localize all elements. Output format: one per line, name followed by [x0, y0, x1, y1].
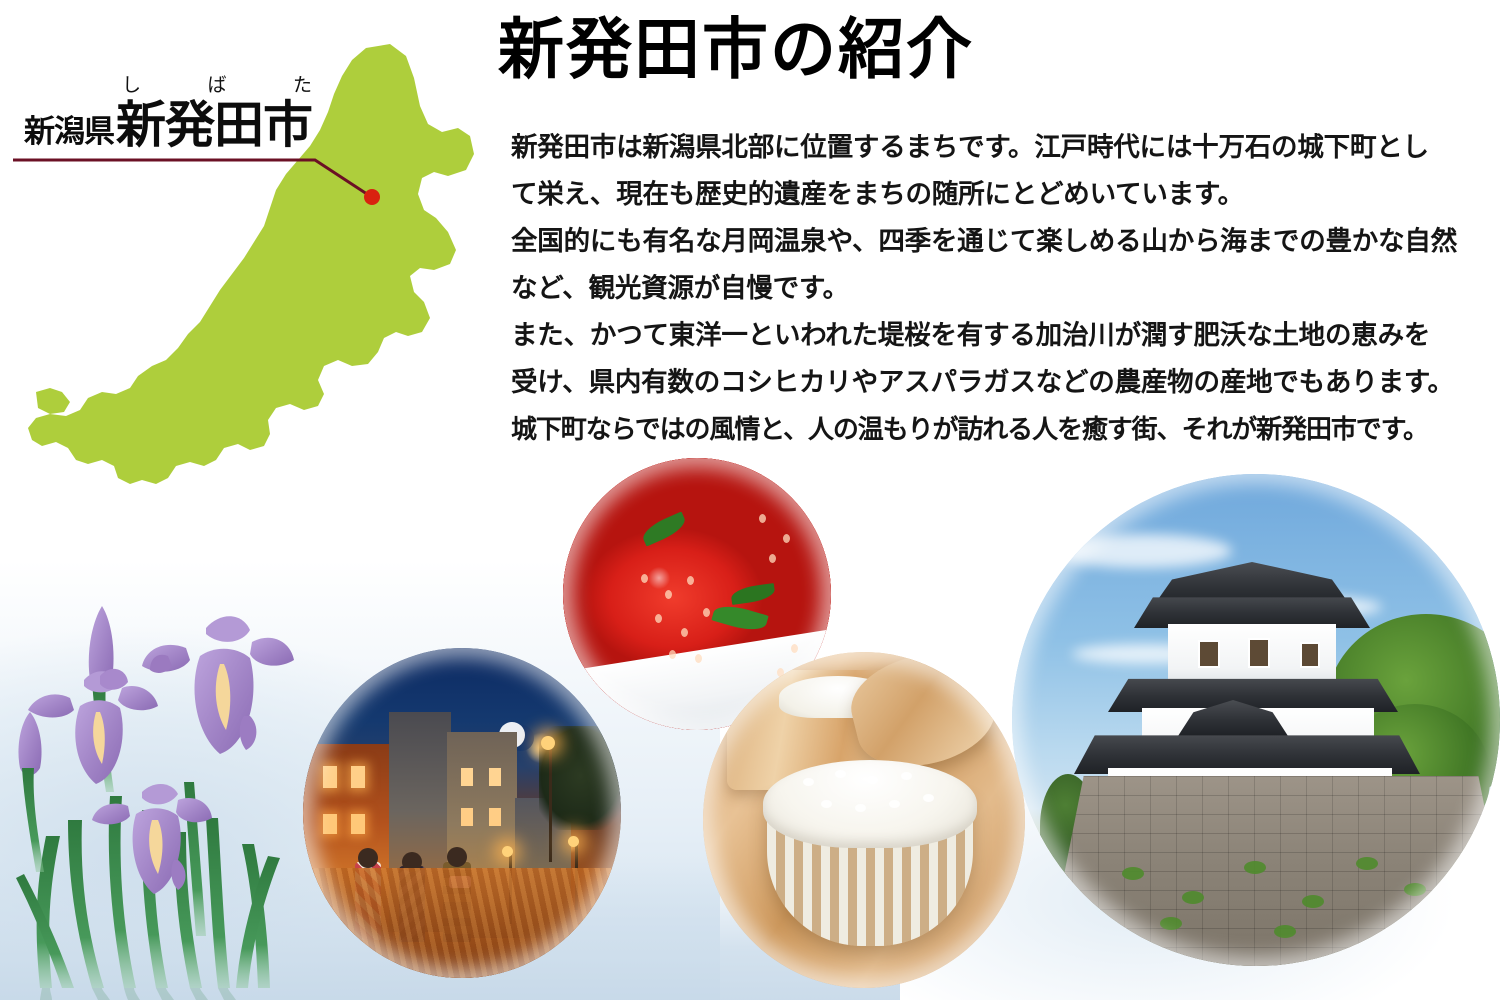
rice-grain [803, 778, 814, 786]
furigana-char-shi: し [122, 76, 141, 95]
cooked-rice-mound [763, 760, 977, 848]
rice-grain [855, 804, 866, 812]
strawberry-leaf [730, 583, 776, 605]
poster-canvas: し ば た 新潟県 新発田市 新発田市の紹介 新発田市は新潟県北部に位置するまち… [0, 0, 1500, 1000]
iris-flowers-illustration [6, 596, 326, 1000]
shrub [1122, 867, 1144, 880]
wet-street [303, 868, 621, 978]
strawberry-leaf [711, 601, 768, 635]
castle-window [1300, 642, 1320, 668]
place-label-line: 新潟県 新発田市 [24, 100, 312, 151]
rice-bowl-image [703, 652, 1025, 988]
rice-grain [901, 772, 912, 780]
castle-window [1198, 640, 1220, 668]
rice-grain [821, 800, 832, 808]
castle-window [1248, 638, 1270, 668]
furigana-char-ta: た [293, 76, 312, 95]
photo-onsen [303, 648, 621, 978]
shrub [1244, 861, 1266, 874]
lit-window [461, 768, 473, 786]
shibata-castle-image [1012, 474, 1500, 966]
prefecture-name: 新潟県 [24, 106, 114, 151]
strawberry-seed [695, 654, 702, 663]
intro-line-4: など、観光資源が自慢です。 [511, 265, 1476, 312]
intro-line-7: 城下町ならではの風情と、人の温もりが訪れる人を癒す街、それが新発田市です。 [511, 406, 1476, 453]
street-lamp-light [568, 836, 579, 847]
rice-grain [889, 800, 900, 808]
strawberry-seed [703, 608, 710, 617]
strawberry-seed [655, 614, 662, 623]
introduction-text: 新発田市は新潟県北部に位置するまちです。江戸時代には十万石の城下町とし て栄え、… [511, 124, 1476, 453]
street-lamp-post [549, 744, 552, 862]
visitor-head [447, 847, 467, 867]
strawberry-leaf [639, 511, 688, 546]
intro-line-3: 全国的にも有名な月岡温泉や、四季を通じて楽しめる山から海までの豊かな自然 [511, 218, 1476, 265]
rice-grain [923, 794, 934, 802]
strawberry-seed [669, 650, 676, 659]
shrub [1160, 917, 1182, 930]
furigana-shibata: し ば た [122, 76, 312, 95]
lit-window [489, 808, 501, 826]
intro-line-2: て栄え、現在も歴史的遺産をまちの随所にとどめいています。 [511, 171, 1476, 218]
page-title: 新発田市の紹介 [498, 18, 974, 84]
place-label: し ば た 新潟県 新発田市 [10, 70, 340, 165]
shrub [1274, 925, 1296, 938]
city-name: 新発田市 [116, 100, 312, 150]
photo-rice [703, 652, 1025, 988]
strawberry-seed [769, 554, 776, 563]
lit-window [489, 768, 501, 786]
lit-window [351, 766, 365, 788]
lit-window [351, 814, 365, 834]
iris-flower [142, 616, 294, 754]
strawberry-seed [759, 514, 766, 523]
shrub [1182, 891, 1204, 904]
strawberry-seed [783, 534, 790, 543]
street-lamp-light [502, 846, 513, 857]
onsen-night-street-image [303, 648, 621, 978]
castle-eave-top [1134, 594, 1370, 628]
iris-flower [28, 669, 158, 784]
street-lamp-light [541, 736, 555, 750]
shrub [1404, 883, 1426, 896]
strawberry-seed [687, 576, 694, 585]
strawberry-seed [641, 574, 648, 583]
visitor-head [358, 848, 378, 868]
intro-line-1: 新発田市は新潟県北部に位置するまちです。江戸時代には十万石の城下町とし [511, 124, 1476, 171]
cloud [1052, 534, 1232, 568]
photo-castle [1012, 474, 1500, 966]
furigana-char-ba: ば [207, 76, 226, 95]
lit-window [461, 808, 473, 826]
castle-stone-wall [1046, 776, 1500, 966]
water-reflection [40, 988, 236, 1000]
intro-line-6: 受け、県内有数のコシヒカリやアスパラガスなどの農産物の産地でもあります。 [511, 359, 1476, 406]
sado-island-shape [36, 388, 70, 414]
shrub [1302, 895, 1324, 908]
strawberry-seed [681, 628, 688, 637]
shibata-city-marker [364, 189, 380, 205]
intro-line-5: また、かつて東洋一といわれた堤桜を有する加治川が潤す肥沃な土地の恵みを [511, 312, 1476, 359]
rice-grain [867, 776, 878, 784]
strawberry-seed [665, 590, 672, 599]
shrub [1356, 857, 1378, 870]
rice-grain [835, 770, 846, 778]
